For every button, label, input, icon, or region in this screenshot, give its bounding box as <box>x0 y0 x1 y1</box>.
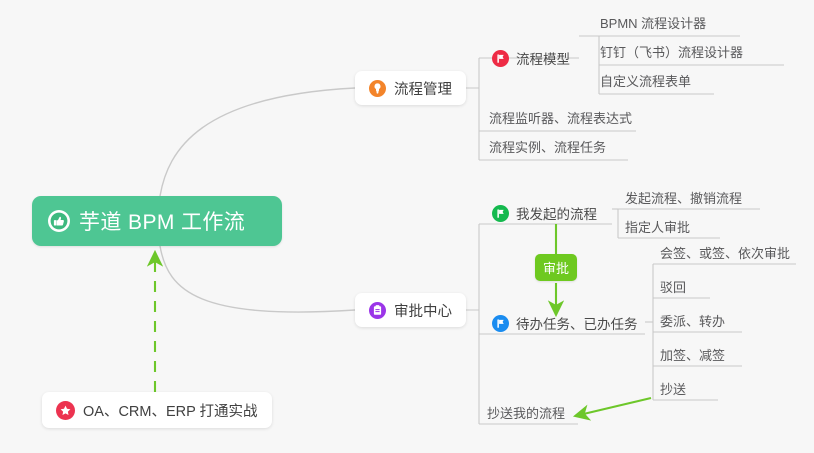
bottom-note-label: OA、CRM、ERP 打通实战 <box>83 400 258 421</box>
node-process-management[interactable]: 流程管理 <box>355 71 466 105</box>
arrow-cc-to-process <box>575 398 651 416</box>
node-delegate-transfer[interactable]: 委派、转办 <box>660 309 725 331</box>
approval-tag[interactable]: 审批 <box>535 254 577 281</box>
node-approval-center-label: 审批中心 <box>394 300 452 321</box>
node-assignee-approval-label: 指定人审批 <box>625 217 690 236</box>
node-delegate-transfer-label: 委派、转办 <box>660 311 725 330</box>
node-todo-done-tasks[interactable]: 待办任务、已办任务 <box>492 312 638 334</box>
node-process-model-label: 流程模型 <box>516 48 570 68</box>
node-process-instance-task-label: 流程实例、流程任务 <box>489 137 606 156</box>
node-countersign-orsign-sequential-label: 会签、或签、依次审批 <box>660 243 790 262</box>
node-bpmn-designer[interactable]: BPMN 流程设计器 <box>600 11 706 33</box>
root-node[interactable]: 芋道 BPM 工作流 <box>32 196 282 246</box>
thumbs-up-icon <box>48 210 70 232</box>
connector-root-to-approval-center <box>160 246 355 312</box>
node-process-listener-expression-label: 流程监听器、流程表达式 <box>489 108 632 127</box>
node-cc-to-me-process[interactable]: 抄送我的流程 <box>487 401 565 423</box>
node-start-cancel-process-label: 发起流程、撤销流程 <box>625 188 742 207</box>
node-dingtalk-feishu-designer[interactable]: 钉钉（飞书）流程设计器 <box>600 40 743 62</box>
node-custom-process-form-label: 自定义流程表单 <box>600 71 691 90</box>
node-add-remove-sign-label: 加签、减签 <box>660 345 725 364</box>
clipboard-icon <box>369 302 386 319</box>
flag-icon <box>492 205 509 222</box>
root-label: 芋道 BPM 工作流 <box>79 206 245 236</box>
node-process-instance-task[interactable]: 流程实例、流程任务 <box>489 135 606 157</box>
approval-tag-label: 审批 <box>543 258 569 277</box>
node-bpmn-designer-label: BPMN 流程设计器 <box>600 13 706 32</box>
mindmap-canvas: 芋道 BPM 工作流 流程管理 流程模型 BPMN 流程设计器 钉钉（飞书）流程… <box>0 0 814 453</box>
bottom-note-node[interactable]: OA、CRM、ERP 打通实战 <box>42 392 272 428</box>
node-custom-process-form[interactable]: 自定义流程表单 <box>600 69 691 91</box>
node-add-remove-sign[interactable]: 加签、减签 <box>660 343 725 365</box>
node-reject[interactable]: 驳回 <box>660 275 686 297</box>
node-approval-center[interactable]: 审批中心 <box>355 293 466 327</box>
node-process-listener-expression[interactable]: 流程监听器、流程表达式 <box>489 106 632 128</box>
flag-icon <box>492 315 509 332</box>
node-cc[interactable]: 抄送 <box>660 377 686 399</box>
node-my-initiated-process[interactable]: 我发起的流程 <box>492 202 597 224</box>
star-icon <box>56 401 75 420</box>
node-reject-label: 驳回 <box>660 277 686 296</box>
node-cc-to-me-process-label: 抄送我的流程 <box>487 403 565 422</box>
connector-root-to-process-management <box>160 88 355 196</box>
node-my-initiated-process-label: 我发起的流程 <box>516 203 597 223</box>
node-countersign-orsign-sequential[interactable]: 会签、或签、依次审批 <box>660 241 790 263</box>
node-dingtalk-feishu-designer-label: 钉钉（飞书）流程设计器 <box>600 42 743 61</box>
flag-icon <box>492 50 509 67</box>
node-cc-label: 抄送 <box>660 379 686 398</box>
node-process-management-label: 流程管理 <box>394 78 452 99</box>
node-assignee-approval[interactable]: 指定人审批 <box>625 215 690 237</box>
node-process-model[interactable]: 流程模型 <box>492 47 570 69</box>
lightbulb-pin-icon <box>369 80 386 97</box>
node-start-cancel-process[interactable]: 发起流程、撤销流程 <box>625 186 742 208</box>
node-todo-done-tasks-label: 待办任务、已办任务 <box>516 313 638 333</box>
